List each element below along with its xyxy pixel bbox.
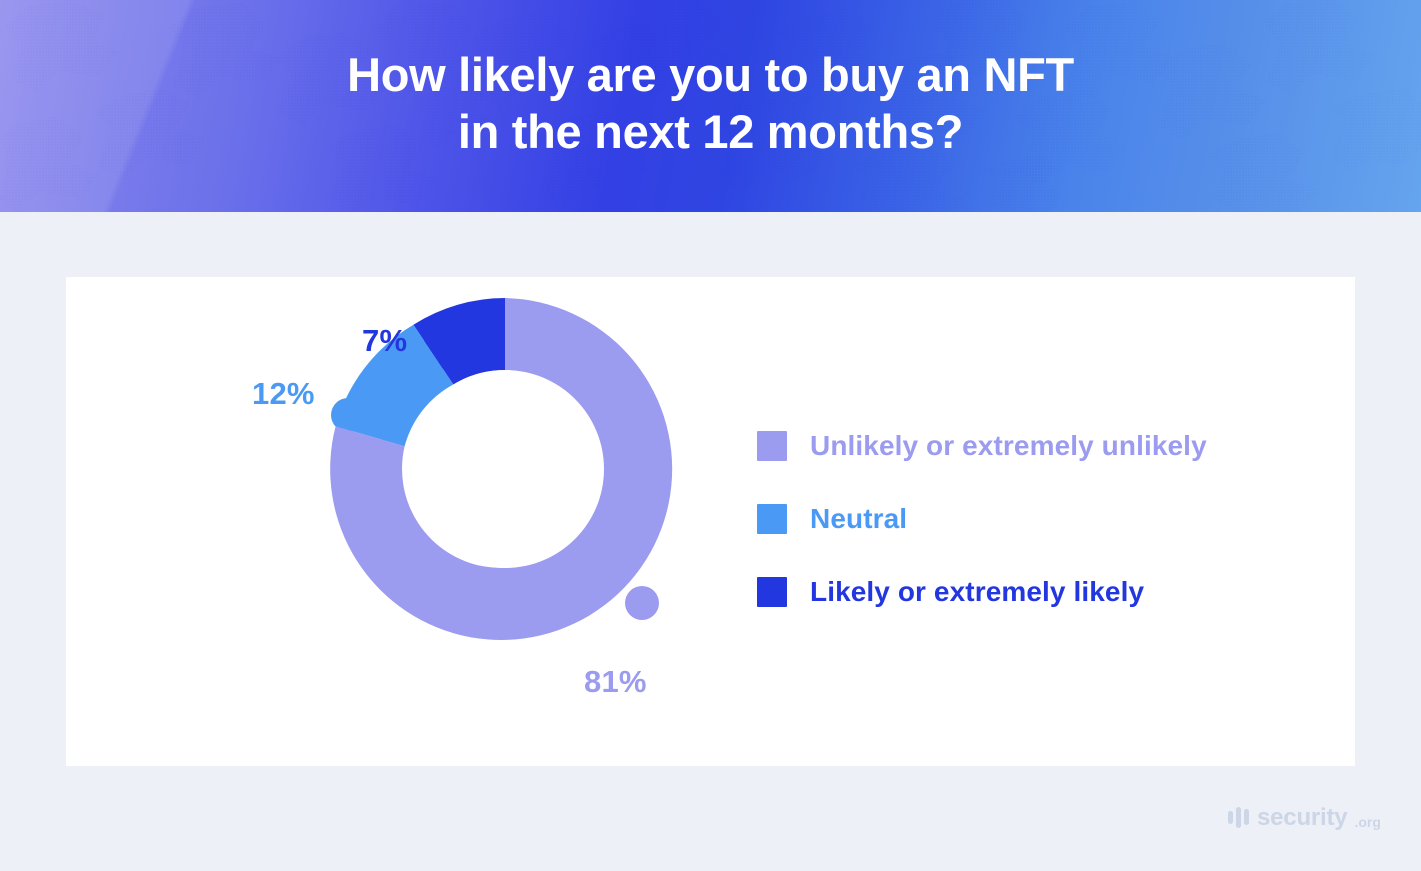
legend-swatch-icon-unlikely [757, 431, 787, 461]
data-label-unlikely: 81% [584, 664, 647, 700]
donut-hole [406, 370, 604, 568]
legend-label-unlikely: Unlikely or extremely unlikely [810, 430, 1207, 462]
donut-nub-unlikely [625, 586, 659, 620]
data-label-neutral: 12% [252, 376, 315, 412]
legend-label-likely: Likely or extremely likely [810, 576, 1144, 608]
legend-swatch-icon-neutral [757, 504, 787, 534]
header-banner: How likely are you to buy an NFT in the … [0, 0, 1421, 212]
logo-tld: .org [1354, 815, 1380, 829]
infographic-root: How likely are you to buy an NFT in the … [0, 0, 1421, 871]
bars-icon [1228, 806, 1249, 828]
data-label-likely: 7% [362, 323, 407, 359]
page-title-line-1: How likely are you to buy an NFT [347, 51, 1074, 100]
logo-wordmark: security [1257, 806, 1347, 830]
page-title: How likely are you to buy an NFT in the … [0, 0, 1421, 212]
legend-item-likely[interactable]: Likely or extremely likely [757, 576, 1207, 608]
legend-swatch-icon-likely [757, 577, 787, 607]
page-title-line-2: in the next 12 months? [458, 108, 963, 157]
donut-chart [268, 293, 743, 753]
chart-legend: Unlikely or extremely unlikely Neutral L… [757, 430, 1207, 608]
legend-item-unlikely[interactable]: Unlikely or extremely unlikely [757, 430, 1207, 462]
security-org-logo[interactable]: security .org [1228, 806, 1381, 830]
chart-card: 7% 12% 81% Unlikely or extremely unlikel… [66, 277, 1355, 766]
legend-item-neutral[interactable]: Neutral [757, 503, 1207, 535]
legend-label-neutral: Neutral [810, 503, 907, 535]
